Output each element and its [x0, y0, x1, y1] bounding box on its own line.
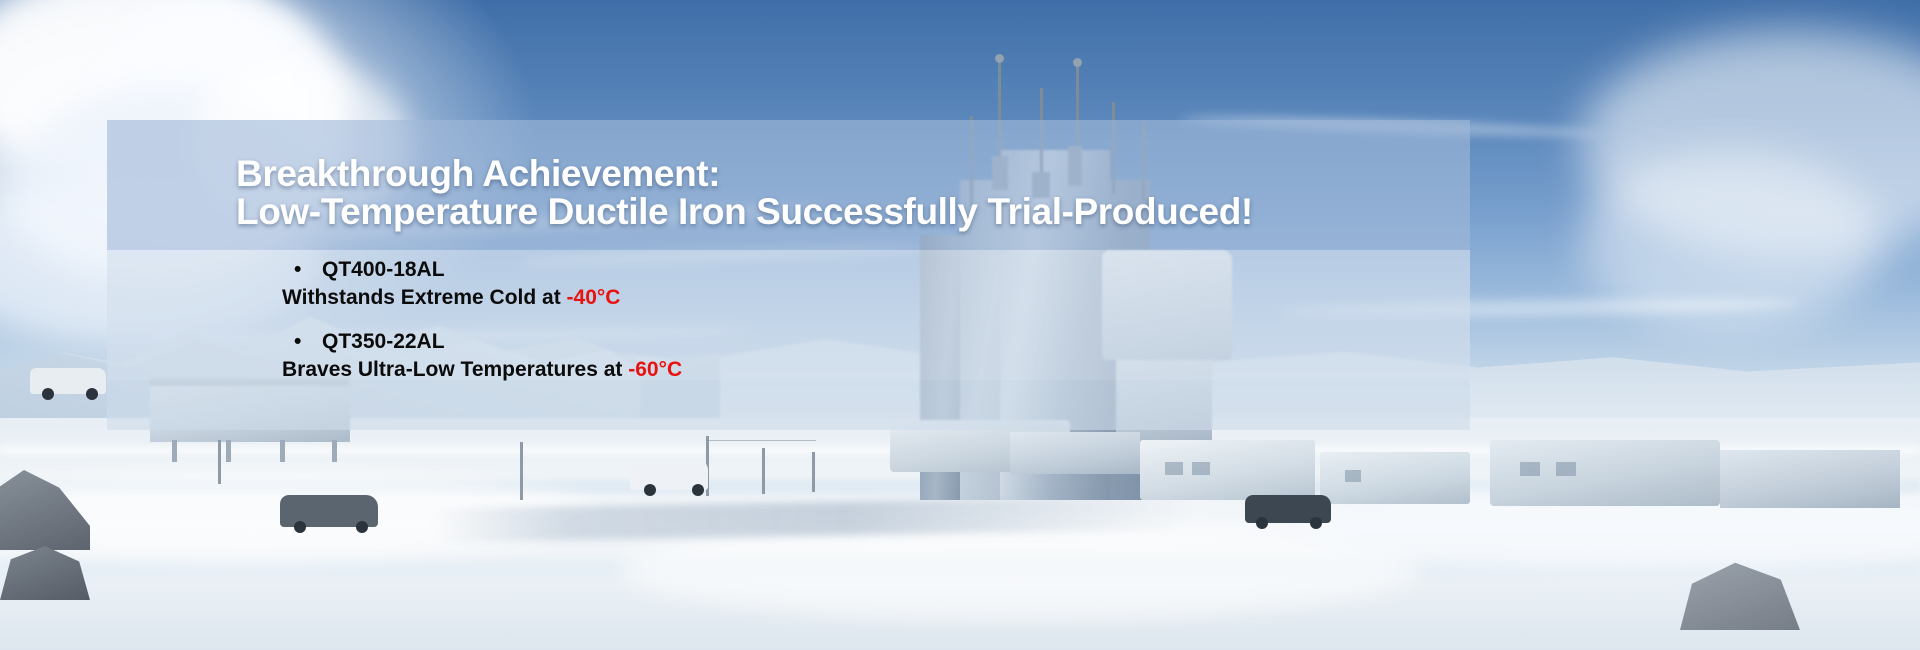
vehicle-wheel [1310, 517, 1322, 529]
vehicle-wheel [644, 484, 656, 496]
headline-line-2: Low-Temperature Ductile Iron Successfull… [236, 193, 1456, 231]
antenna-cap [995, 54, 1004, 63]
bullet-description-text: Withstands Extreme Cold at [282, 286, 567, 309]
utility-pole [762, 448, 765, 494]
promo-banner: Breakthrough Achievement: Low-Temperatur… [0, 0, 1920, 650]
platform-leg [172, 440, 177, 462]
material-grade-label: QT400-18AL [322, 258, 445, 282]
temperature-value: -60°C [628, 358, 682, 381]
utility-pole [520, 442, 523, 500]
vehicle-wheel [692, 484, 704, 496]
platform-leg [226, 440, 231, 462]
power-wire [706, 440, 816, 441]
antenna-cap [1073, 58, 1082, 67]
vehicle-wheel [1256, 517, 1268, 529]
building-window [1556, 462, 1576, 476]
headline: Breakthrough Achievement: Low-Temperatur… [236, 155, 1456, 232]
bullet-list: • QT400-18AL Withstands Extreme Cold at … [282, 258, 1382, 402]
utility-pole [812, 452, 815, 492]
building-window [1165, 462, 1183, 475]
platform-leg [280, 440, 285, 462]
bullet-item: • QT350-22AL Braves Ultra-Low Temperatur… [282, 330, 1382, 382]
facility-building [1010, 432, 1140, 474]
vehicle-wheel [42, 388, 54, 400]
bullet-description-text: Braves Ultra-Low Temperatures at [282, 358, 628, 381]
bullet-description: Braves Ultra-Low Temperatures at -60°C [282, 358, 1382, 382]
building-window [1345, 470, 1361, 482]
utility-pole [218, 440, 221, 484]
bullet-description: Withstands Extreme Cold at -40°C [282, 286, 1382, 310]
bullet-code-row: • QT350-22AL [282, 330, 1382, 354]
bullet-item: • QT400-18AL Withstands Extreme Cold at … [282, 258, 1382, 310]
vehicle-wheel [356, 521, 368, 533]
bullet-code-row: • QT400-18AL [282, 258, 1382, 282]
vehicle-wheel [294, 521, 306, 533]
bullet-marker-icon: • [288, 259, 322, 280]
building-window [1520, 462, 1540, 476]
headline-line-1: Breakthrough Achievement: [236, 153, 720, 194]
temperature-value: -40°C [567, 286, 621, 309]
building-window [1192, 462, 1210, 475]
facility-building [1320, 452, 1470, 504]
platform-leg [332, 440, 337, 462]
material-grade-label: QT350-22AL [322, 330, 445, 354]
facility-building [1720, 450, 1900, 508]
vehicle-wheel [86, 388, 98, 400]
bullet-marker-icon: • [288, 331, 322, 352]
